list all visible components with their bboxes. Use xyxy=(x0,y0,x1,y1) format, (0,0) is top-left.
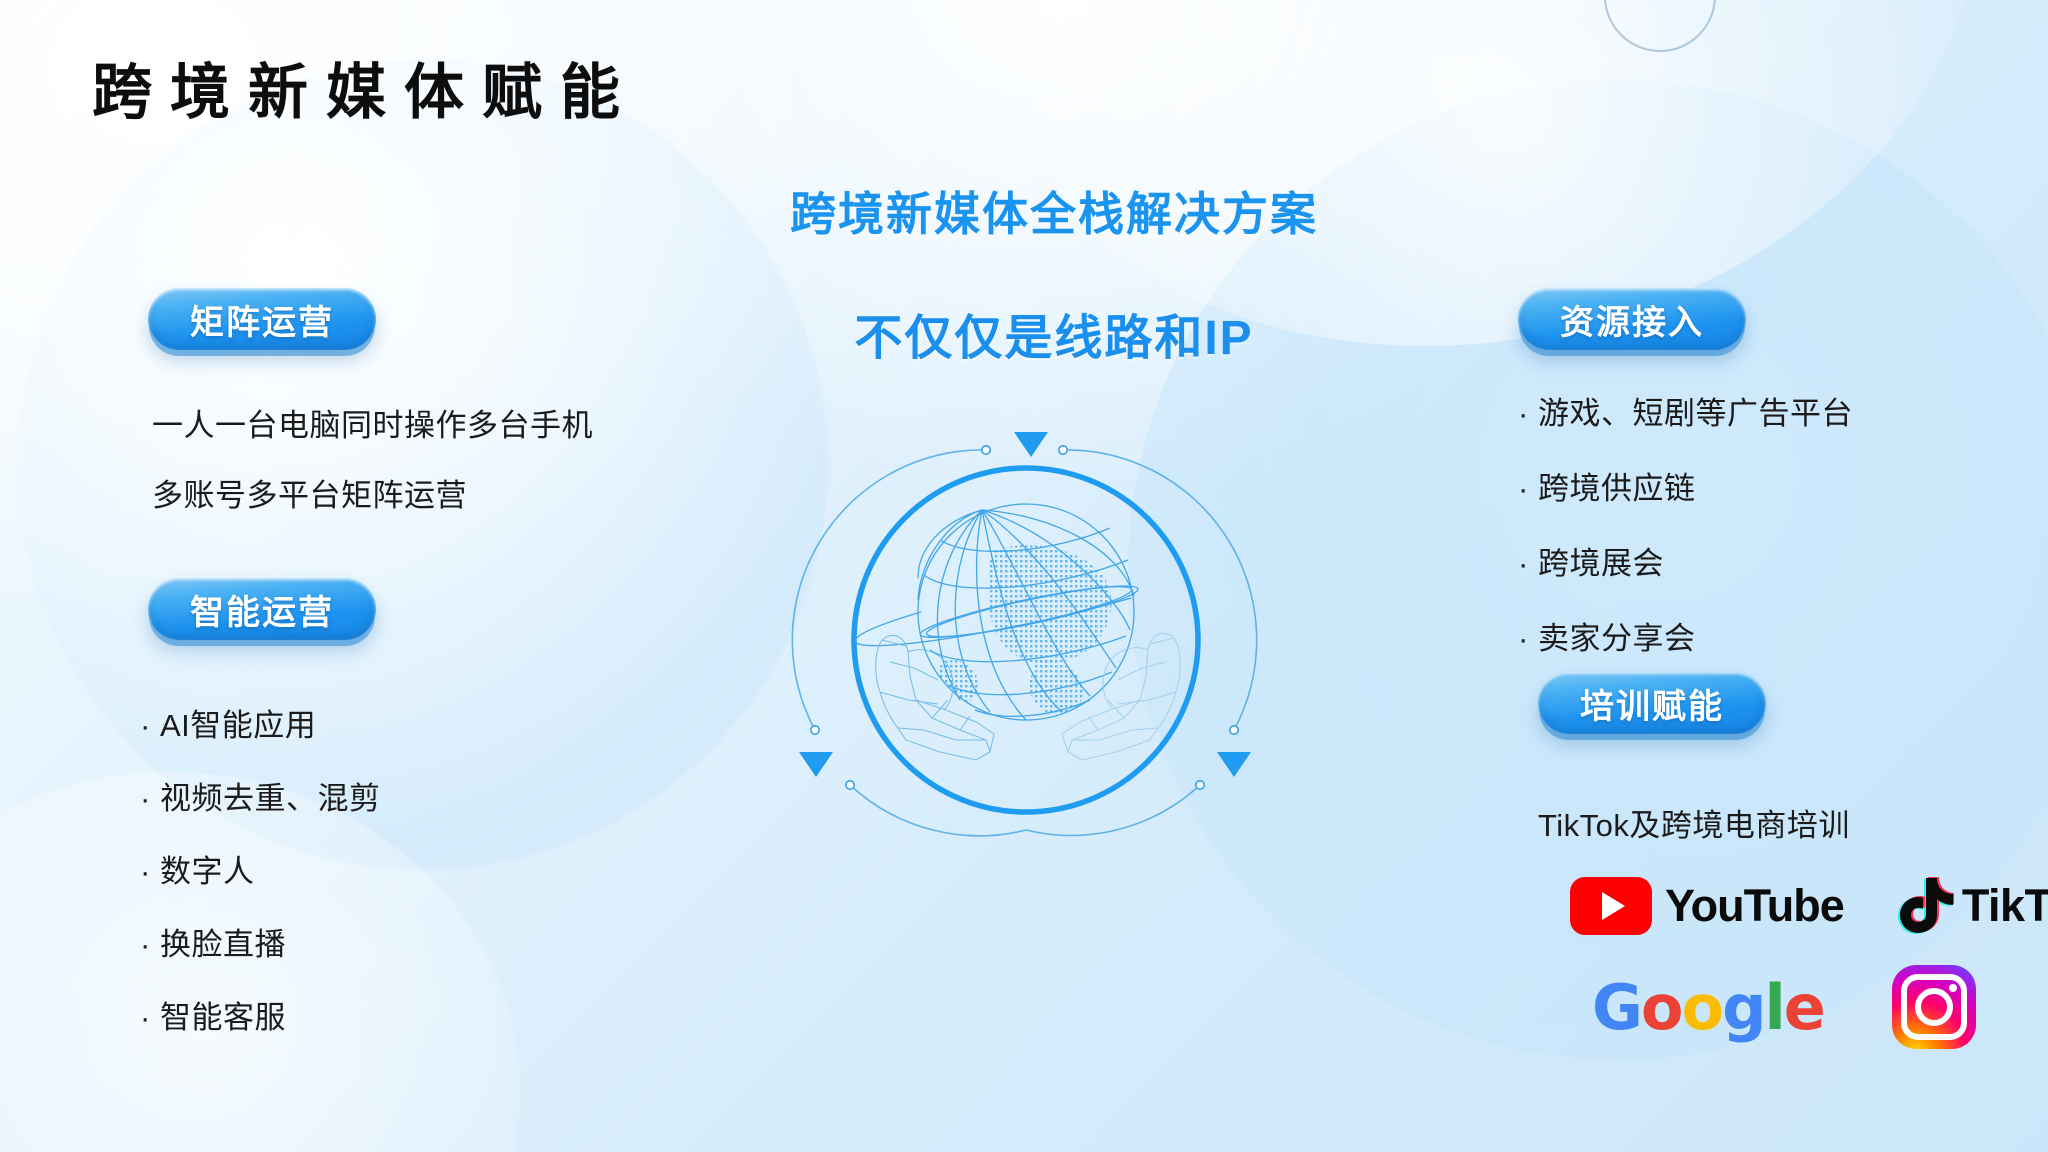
badge-training-empowerment[interactable]: 培训赋能 xyxy=(1538,672,1766,734)
headline-primary: 跨境新媒体全栈解决方案 xyxy=(60,178,2048,244)
bullet-dot-icon: · xyxy=(140,1000,160,1036)
google-letter: o xyxy=(1641,971,1682,1044)
list-item: ·智能客服 xyxy=(140,992,381,1037)
bullet-dot-icon: · xyxy=(1518,471,1538,507)
list-item-label: 智能客服 xyxy=(160,1000,286,1035)
youtube-wordmark: YouTube xyxy=(1665,880,1844,932)
list-item-label: 跨境展会 xyxy=(1538,546,1664,581)
instagram-logo[interactable] xyxy=(1892,965,1976,1049)
background-light-streak xyxy=(912,0,2048,436)
logo-row-bottom: Google xyxy=(1592,965,1976,1049)
logo-row-top: YouTube TikTok xyxy=(1570,875,2048,937)
wireframe-hand-left xyxy=(876,636,994,760)
left-section1-line-2: 多账号多平台矩阵运营 xyxy=(152,470,467,515)
google-logo[interactable]: Google xyxy=(1592,971,1824,1044)
google-letter: g xyxy=(1722,971,1764,1044)
list-item: ·视频去重、混剪 xyxy=(140,773,381,818)
list-item: ·AI智能应用 xyxy=(140,700,381,745)
bullet-dot-icon: · xyxy=(140,927,160,963)
bullet-dot-icon: · xyxy=(140,708,160,744)
globe-illustration-svg xyxy=(790,400,1260,870)
bullet-dot-icon: · xyxy=(1518,546,1538,582)
list-item: ·卖家分享会 xyxy=(1518,613,1853,658)
list-item: ·跨境展会 xyxy=(1518,538,1853,583)
list-item-label: 卖家分享会 xyxy=(1538,621,1696,656)
youtube-play-icon xyxy=(1570,877,1652,935)
globe-landmass xyxy=(938,545,1111,714)
google-letter: l xyxy=(1765,971,1784,1044)
google-letter: o xyxy=(1682,971,1723,1044)
decorative-circle-outline xyxy=(1604,0,1716,52)
list-item: ·数字人 xyxy=(140,846,381,891)
left-section1-line-1: 一人一台电脑同时操作多台手机 xyxy=(152,400,593,445)
right-section2-line-1: TikTok及跨境电商培训 xyxy=(1538,800,1850,845)
google-letter: G xyxy=(1592,971,1641,1044)
tiktok-logo[interactable]: TikTok xyxy=(1898,875,2048,937)
google-letter: e xyxy=(1784,971,1824,1044)
bullet-dot-icon: · xyxy=(140,781,160,817)
right-bullet-list: ·游戏、短剧等广告平台 ·跨境供应链 ·跨境展会 ·卖家分享会 xyxy=(1518,388,1853,658)
list-item-label: 视频去重、混剪 xyxy=(160,781,381,816)
list-item-label: 游戏、短剧等广告平台 xyxy=(1538,396,1853,431)
youtube-logo[interactable]: YouTube xyxy=(1570,877,1844,935)
list-item-label: 数字人 xyxy=(160,854,255,889)
list-item-label: 换脸直播 xyxy=(160,927,286,962)
list-item: ·换脸直播 xyxy=(140,919,381,964)
tiktok-note-icon xyxy=(1898,875,1954,937)
left-bullet-list: ·AI智能应用 ·视频去重、混剪 ·数字人 ·换脸直播 ·智能客服 xyxy=(140,700,381,1037)
badge-matrix-operations[interactable]: 矩阵运营 xyxy=(148,288,376,350)
bullet-dot-icon: · xyxy=(1518,396,1538,432)
slide-canvas: 跨境新媒体赋能 跨境新媒体全栈解决方案 不仅仅是线路和IP 矩阵运营 一人一台电… xyxy=(0,0,2048,1152)
tiktok-wordmark: TikTok xyxy=(1962,880,2048,932)
instagram-lens-icon xyxy=(1915,988,1953,1026)
list-item-label: AI智能应用 xyxy=(160,708,316,743)
bullet-dot-icon: · xyxy=(1518,621,1538,657)
instagram-flash-dot-icon xyxy=(1949,984,1957,992)
badge-resource-access[interactable]: 资源接入 xyxy=(1518,288,1746,350)
list-item: ·跨境供应链 xyxy=(1518,463,1853,508)
bullet-dot-icon: · xyxy=(140,854,160,890)
page-title: 跨境新媒体赋能 xyxy=(92,44,638,131)
list-item-label: 跨境供应链 xyxy=(1538,471,1696,506)
badge-smart-operations[interactable]: 智能运营 xyxy=(148,578,376,640)
globe-in-hands-illustration xyxy=(790,400,1260,870)
list-item: ·游戏、短剧等广告平台 xyxy=(1518,388,1853,433)
